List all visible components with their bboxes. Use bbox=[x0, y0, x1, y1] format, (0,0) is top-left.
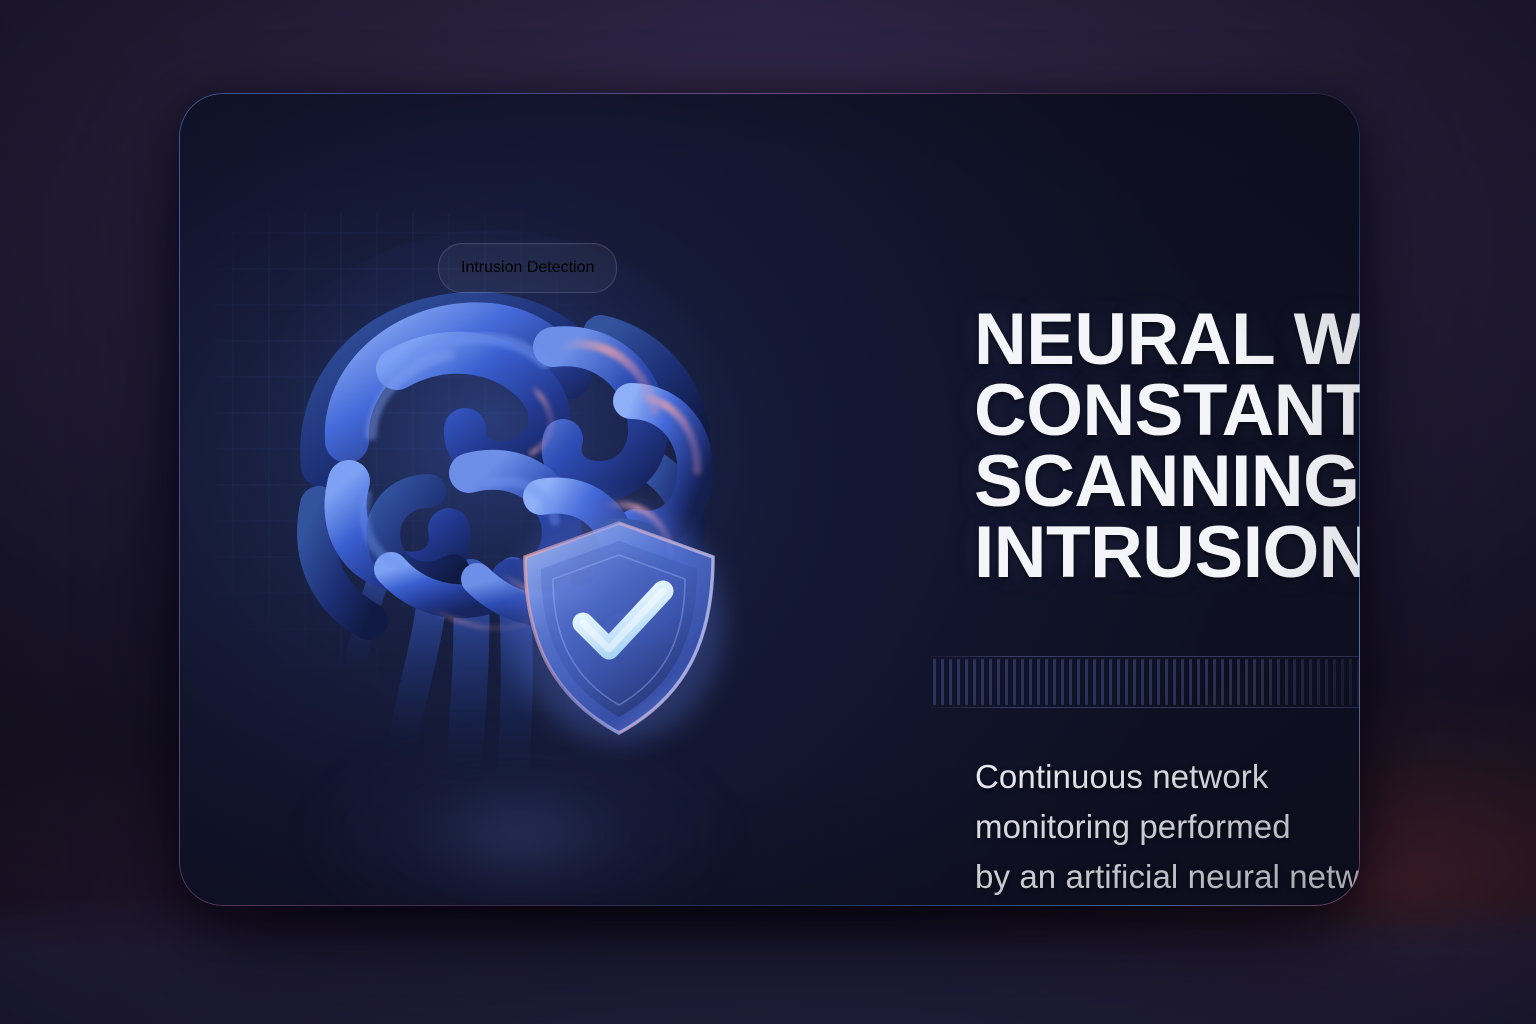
separator-rule-bottom bbox=[931, 707, 1360, 708]
page-title: NEURAL WEB CONSTANTLY SCANNING FOR INTRU… bbox=[974, 304, 1360, 588]
background-floor-light bbox=[0, 898, 1536, 1024]
subtitle-line-2: monitoring performed bbox=[975, 802, 1360, 852]
headline-line-1: NEURAL WEB bbox=[974, 304, 1360, 375]
brain-icon bbox=[201, 205, 801, 845]
headline-line-2: CONSTANTLY bbox=[974, 375, 1360, 446]
headline-line-4: INTRUSIONS bbox=[974, 517, 1360, 588]
separator-rule-top bbox=[931, 656, 1360, 657]
subtitle: Continuous network monitoring performed … bbox=[975, 752, 1360, 902]
subtitle-line-3: by an artificial neural network bbox=[975, 852, 1360, 902]
subtitle-line-1: Continuous network bbox=[975, 752, 1360, 802]
headline-line-3: SCANNING FOR bbox=[974, 446, 1360, 517]
feature-card: Intrusion Detection NEURAL WEB CONSTANTL… bbox=[179, 93, 1360, 906]
category-badge[interactable]: Intrusion Detection bbox=[438, 243, 617, 293]
poster-canvas: Intrusion Detection NEURAL WEB CONSTANTL… bbox=[0, 0, 1536, 1024]
category-badge-label: Intrusion Detection bbox=[461, 259, 594, 277]
separator-stripes bbox=[933, 659, 1360, 705]
striped-separator bbox=[931, 656, 1360, 708]
artwork-panel bbox=[179, 93, 819, 906]
